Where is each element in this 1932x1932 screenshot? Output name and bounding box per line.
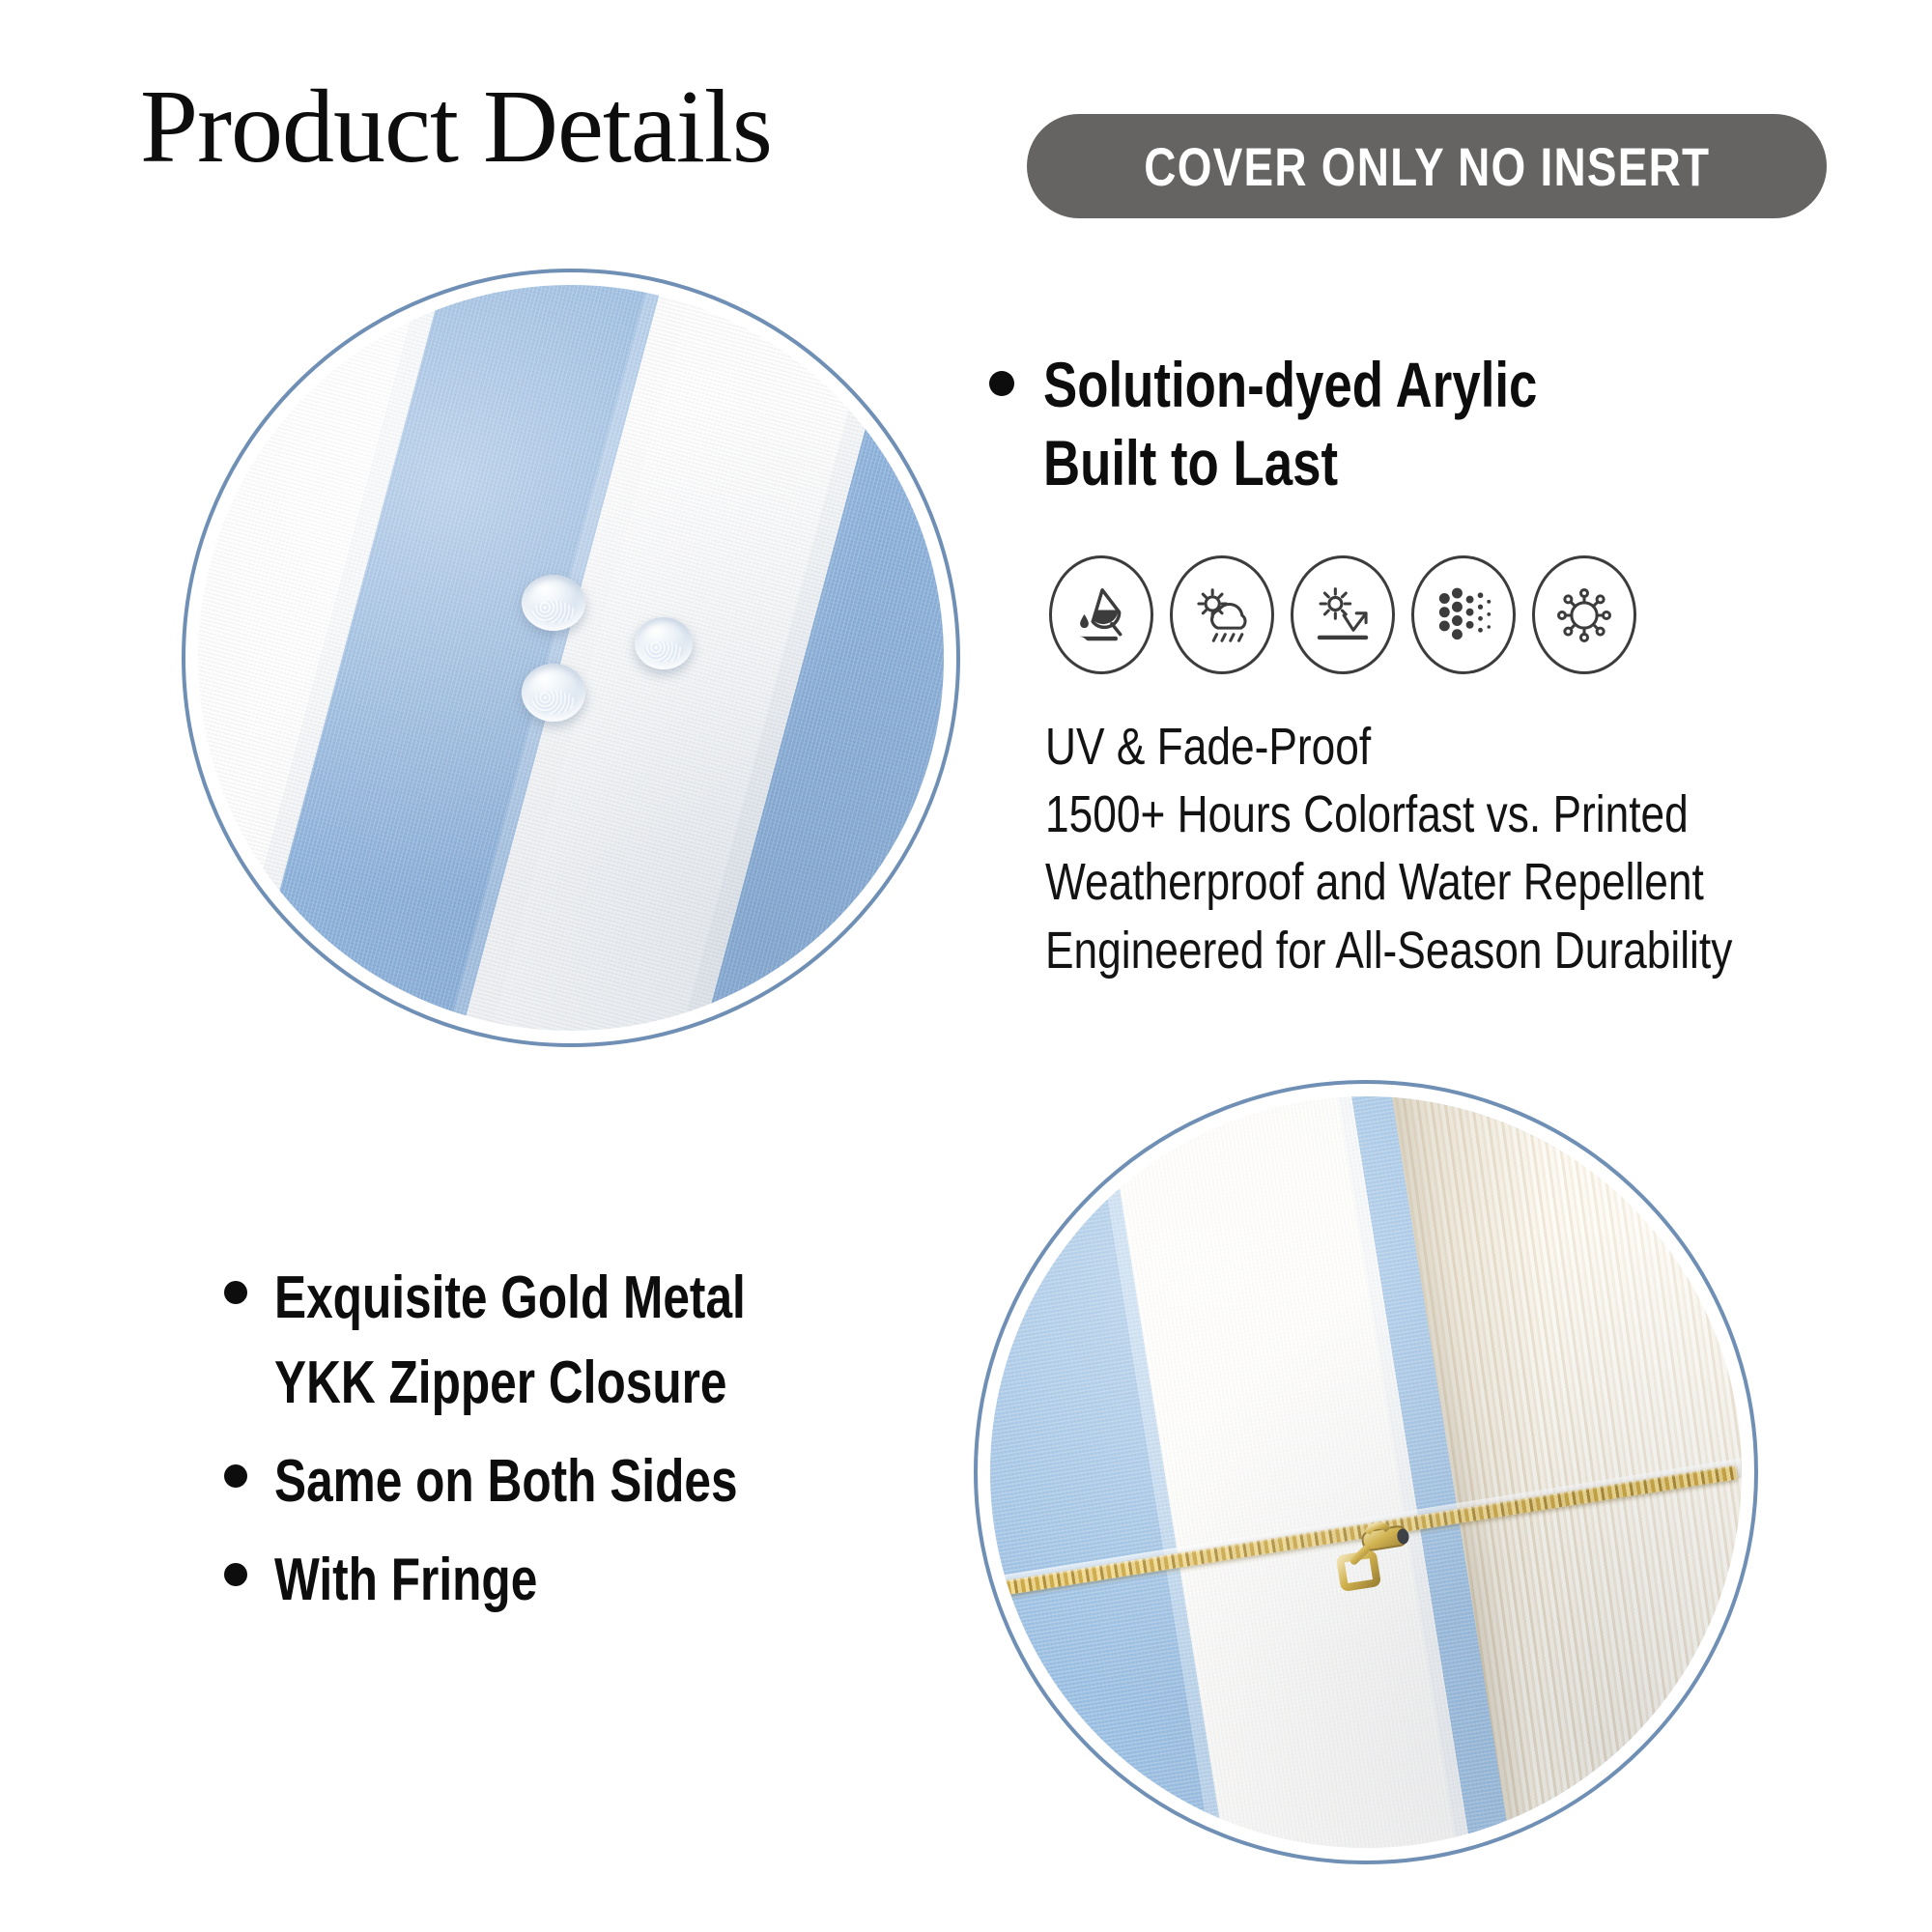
feature-line: Weatherproof and Water Repellent: [1045, 848, 1758, 916]
ykk-zipper-fringe-photo: [974, 1080, 1758, 1864]
bullet-dot-icon: [224, 1464, 247, 1488]
pillow-scene: [990, 1096, 1742, 1848]
bullet-dot-icon: [989, 371, 1014, 396]
cover-only-badge-label: COVER ONLY NO INSERT: [1144, 135, 1710, 198]
fabric-photo-inner: [198, 285, 944, 1031]
water-droplet: [522, 664, 585, 722]
detail-bullet-list: Exquisite Gold Metal YKK Zipper Closure …: [224, 1256, 920, 1636]
fabric-water-repellency-photo: [182, 269, 960, 1047]
feature-heading: Solution-dyed Arylic Built to Last: [989, 346, 1839, 501]
feature-line: 1500+ Hours Colorfast vs. Printed: [1045, 781, 1758, 848]
list-item: With Fringe: [224, 1538, 920, 1623]
detail-bullet-text: Exquisite Gold Metal YKK Zipper Closure: [274, 1256, 746, 1426]
feature-line: UV & Fade-Proof: [1045, 713, 1758, 781]
weatherproof-icon: [1170, 555, 1274, 674]
list-item: Exquisite Gold Metal YKK Zipper Closure: [224, 1256, 920, 1426]
water-droplet: [635, 617, 693, 669]
feature-list: UV & Fade-Proof 1500+ Hours Colorfast vs…: [1045, 713, 1915, 984]
feature-icon-row: [1049, 555, 1636, 674]
water-repellent-icon: [1049, 555, 1153, 674]
pillow-lighting-overlay: [990, 1096, 1742, 1848]
cover-only-badge: COVER ONLY NO INSERT: [1027, 114, 1827, 218]
fabric-lighting-overlay: [198, 285, 944, 1031]
detail-bullet-text: With Fringe: [274, 1538, 537, 1623]
list-item: Same on Both Sides: [224, 1439, 920, 1524]
water-droplet: [522, 575, 585, 631]
fade-gradient-icon: [1411, 555, 1516, 674]
uv-reflect-icon: [1291, 555, 1395, 674]
feature-line: Engineered for All-Season Durability: [1045, 917, 1758, 984]
feature-heading-text: Solution-dyed Arylic Built to Last: [1043, 346, 1537, 501]
bullet-dot-icon: [224, 1563, 247, 1586]
bullet-dot-icon: [224, 1281, 247, 1304]
zipper-photo-inner: [990, 1096, 1742, 1848]
page-title: Product Details: [140, 75, 772, 180]
antimicrobial-icon: [1532, 555, 1636, 674]
detail-bullet-text: Same on Both Sides: [274, 1439, 738, 1524]
